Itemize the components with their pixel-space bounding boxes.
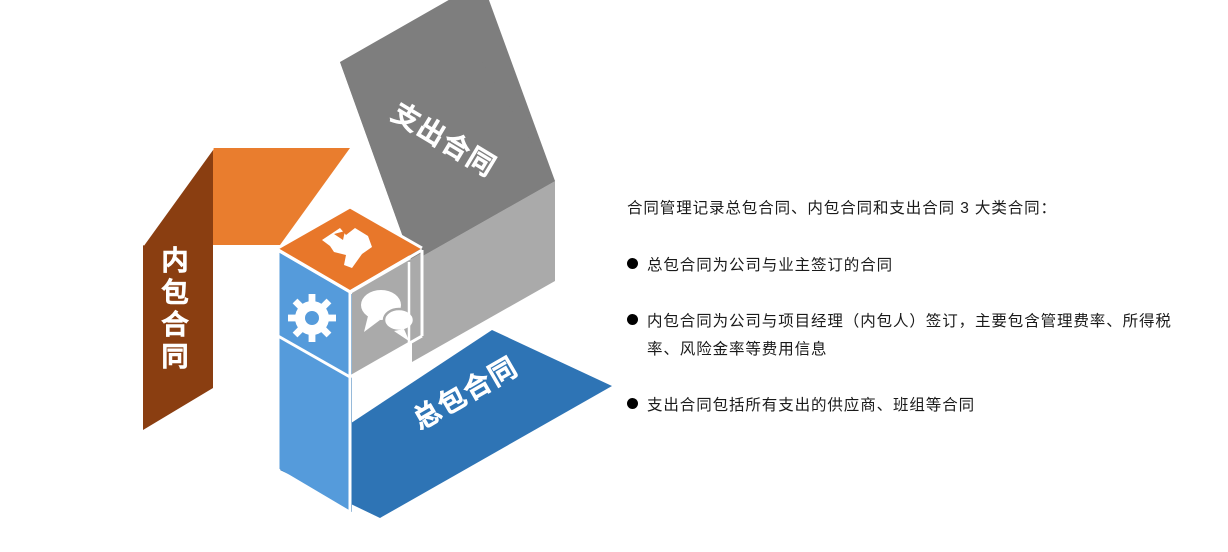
description-panel: 合同管理记录总包合同、内包合同和支出合同 3 大类合同： 总包合同为公司与业主签… — [627, 196, 1172, 420]
list-item: 总包合同为公司与业主签订的合同 — [627, 252, 1172, 280]
band-subcontract-label-char-3: 合 — [162, 309, 189, 340]
band-subcontract-label-char-1: 内 — [162, 246, 189, 276]
gear-icon — [288, 294, 336, 342]
page-root: 支出合同 内 包 合 同 总包合同 — [0, 0, 1228, 552]
intro-text: 合同管理记录总包合同、内包合同和支出合同 3 大类合同： — [627, 196, 1172, 222]
bullet-dot-icon — [627, 314, 638, 325]
bullet-dot-icon — [627, 258, 638, 269]
iso-diagram-svg: 支出合同 内 包 合 同 总包合同 — [0, 0, 620, 552]
list-item: 内包合同为公司与项目经理（内包人）签订，主要包含管理费率、所得税率、风险金率等费… — [627, 308, 1172, 364]
band-subcontract-label-char-4: 同 — [162, 342, 189, 372]
list-item: 支出合同包括所有支出的供应商、班组等合同 — [627, 392, 1172, 420]
band-subcontract-label-char-2: 包 — [162, 277, 189, 308]
bullet-dot-icon — [627, 398, 638, 409]
bullet-text-2: 内包合同为公司与项目经理（内包人）签订，主要包含管理费率、所得税率、风险金率等费… — [647, 308, 1172, 364]
bullet-text-1: 总包合同为公司与业主签订的合同 — [647, 252, 893, 280]
contract-iso-diagram: 支出合同 内 包 合 同 总包合同 — [0, 0, 620, 552]
bullet-text-3: 支出合同包括所有支出的供应商、班组等合同 — [647, 392, 975, 420]
